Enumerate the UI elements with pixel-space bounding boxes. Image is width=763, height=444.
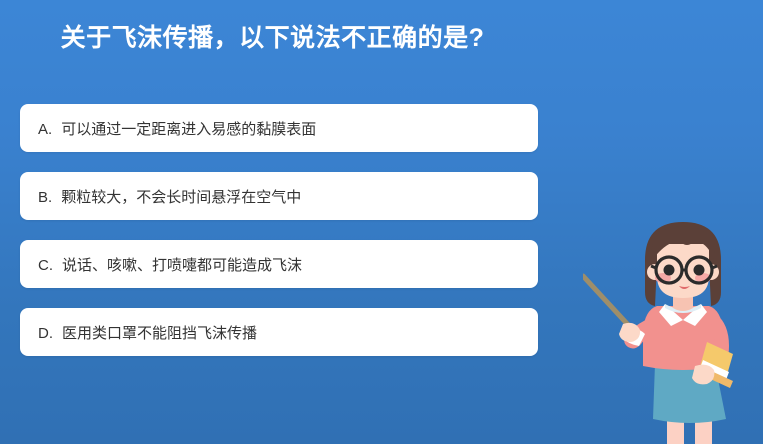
quiz-screen: 关于飞沫传播，以下说法不正确的是? A. 可以通过一定距离进入易感的黏膜表面 B… bbox=[0, 0, 763, 444]
option-c-content: C. 说话、咳嗽、打喷嚏都可能造成飞沫 bbox=[20, 254, 302, 275]
option-a-letter: A. bbox=[38, 121, 52, 138]
right-eye-shape bbox=[694, 265, 705, 276]
option-b-content: B. 颗粒较大，不会长时间悬浮在空气中 bbox=[20, 186, 301, 207]
teacher-illustration bbox=[583, 214, 763, 444]
left-eye-shape bbox=[664, 265, 675, 276]
page-title: 关于飞沫传播，以下说法不正确的是? bbox=[61, 18, 485, 54]
option-d-label: 医用类口罩不能阻挡飞沫传播 bbox=[62, 322, 257, 343]
option-c-letter: C. bbox=[38, 257, 53, 274]
option-d-letter: D. bbox=[38, 325, 53, 342]
option-a-content: A. 可以通过一定距离进入易感的黏膜表面 bbox=[20, 118, 316, 139]
right-hand-shape bbox=[692, 365, 714, 385]
question-title-container: 关于飞沫传播，以下说法不正确的是? bbox=[0, 14, 545, 58]
pointer-stick-icon bbox=[583, 276, 631, 328]
option-c[interactable]: C. 说话、咳嗽、打喷嚏都可能造成飞沫 bbox=[20, 240, 538, 288]
option-d[interactable]: D. 医用类口罩不能阻挡飞沫传播 bbox=[20, 308, 538, 356]
option-d-content: D. 医用类口罩不能阻挡飞沫传播 bbox=[20, 322, 257, 343]
option-b-label: 颗粒较大，不会长时间悬浮在空气中 bbox=[61, 186, 301, 207]
option-b[interactable]: B. 颗粒较大，不会长时间悬浮在空气中 bbox=[20, 172, 538, 220]
options-list: A. 可以通过一定距离进入易感的黏膜表面 B. 颗粒较大，不会长时间悬浮在空气中… bbox=[20, 104, 538, 376]
option-c-label: 说话、咳嗽、打喷嚏都可能造成飞沫 bbox=[62, 254, 302, 275]
option-a-label: 可以通过一定距离进入易感的黏膜表面 bbox=[61, 118, 316, 139]
option-b-letter: B. bbox=[38, 189, 52, 206]
option-a[interactable]: A. 可以通过一定距离进入易感的黏膜表面 bbox=[20, 104, 538, 152]
